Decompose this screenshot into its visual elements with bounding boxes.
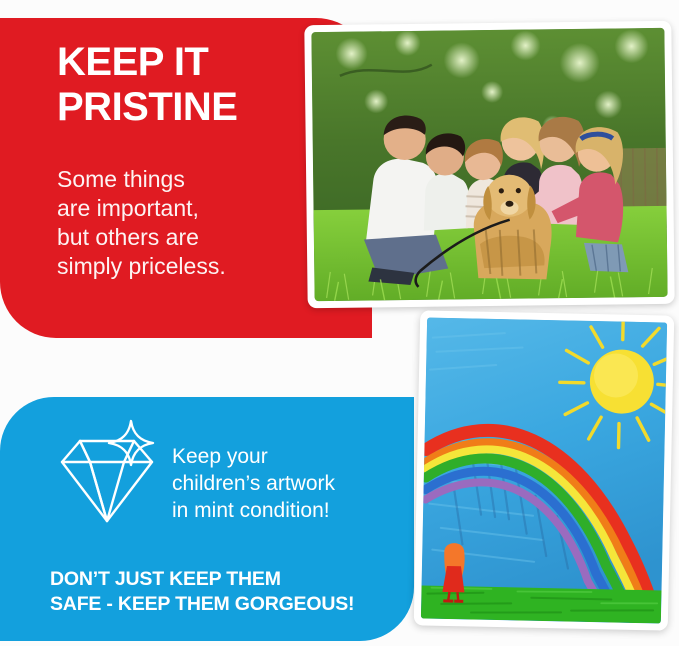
- blue-tagline-line-2: SAFE - KEEP THEM GORGEOUS!: [50, 592, 420, 617]
- blue-tagline-line-1: DON’T JUST KEEP THEM: [50, 567, 420, 592]
- family-photo-frame: [304, 21, 674, 308]
- artwork-frame: [414, 310, 675, 630]
- blue-body-line-3: in mint condition!: [172, 497, 412, 524]
- diamond-sparkle-icon: [52, 417, 170, 535]
- blue-body-line-1: Keep your: [172, 443, 412, 470]
- blue-body-line-2: children’s artwork: [172, 470, 412, 497]
- childrens-crayon-rainbow-drawing: [421, 318, 667, 624]
- promotional-banner: KEEP IT PRISTINE Some things are importa…: [0, 0, 679, 646]
- family-with-golden-retriever-photo: [311, 28, 667, 301]
- blue-panel-tagline: DON’T JUST KEEP THEM SAFE - KEEP THEM GO…: [50, 567, 420, 617]
- blue-panel-body-text: Keep your children’s artwork in mint con…: [172, 443, 412, 524]
